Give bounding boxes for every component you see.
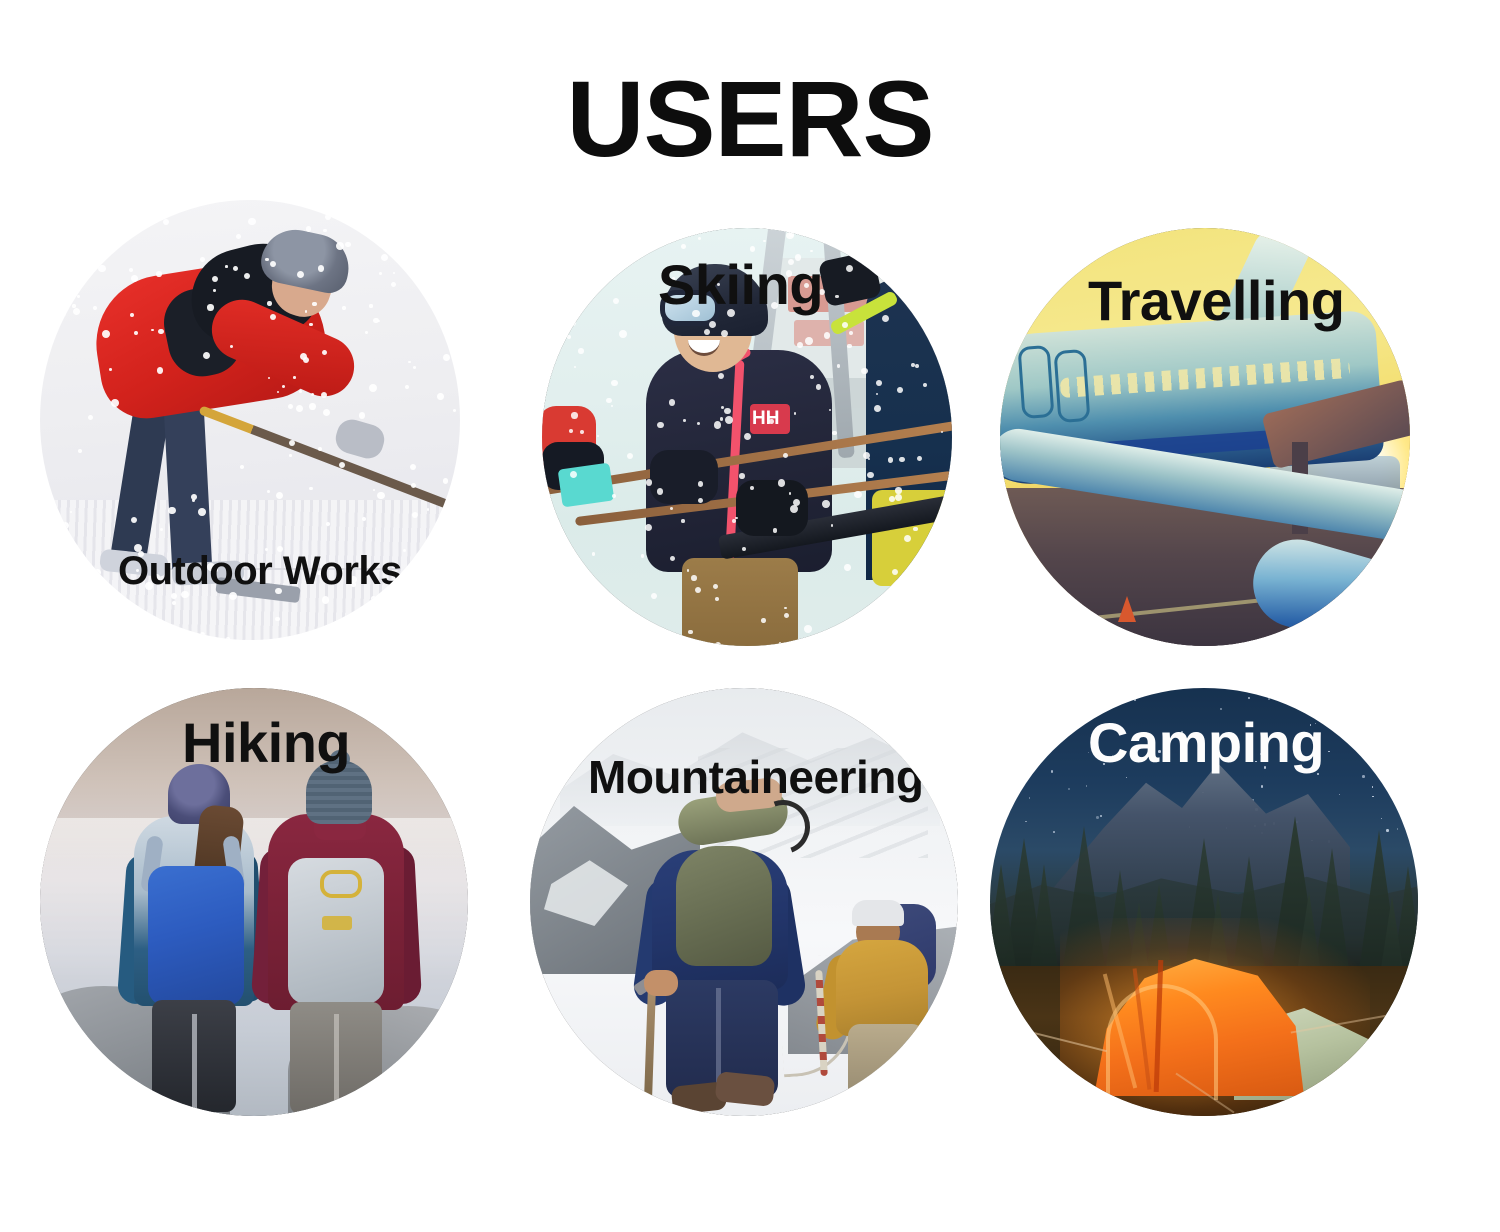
hiker1-backpack bbox=[148, 866, 244, 1006]
card-label-outdoor-works: Outdoor Works bbox=[118, 549, 402, 594]
hiker1-leg-gap bbox=[192, 1014, 197, 1112]
climber1-hand bbox=[644, 970, 678, 996]
hiker2-pack-logo bbox=[322, 916, 352, 930]
aircraft-door-front bbox=[1018, 345, 1055, 419]
users-poster: USERS Outdoor Works bbox=[0, 0, 1500, 1232]
climber2-jacket bbox=[836, 940, 928, 1036]
hiker2-pack-cinch bbox=[320, 870, 362, 898]
climber2-pants bbox=[848, 1024, 924, 1102]
hiker2-leg-gap bbox=[334, 1014, 339, 1114]
card-label-camping: Camping bbox=[1088, 710, 1324, 775]
aircraft-door-rear bbox=[1054, 349, 1091, 423]
climber1-leg-gap bbox=[716, 988, 721, 1084]
card-mountaineering[interactable]: Mountaineering bbox=[530, 688, 958, 1116]
card-label-mountaineering: Mountaineering bbox=[588, 750, 923, 804]
climber1-right-boot bbox=[715, 1071, 776, 1107]
climber2-hat bbox=[852, 900, 904, 926]
card-hiking[interactable]: Hiking bbox=[40, 688, 468, 1116]
climber1-backpack bbox=[676, 846, 772, 966]
card-outdoor-works[interactable]: Outdoor Works bbox=[40, 200, 460, 640]
card-label-travelling: Travelling bbox=[1088, 268, 1344, 333]
card-camping[interactable]: Camping bbox=[990, 688, 1418, 1116]
card-label-hiking: Hiking bbox=[182, 710, 350, 775]
card-travelling[interactable]: Travelling bbox=[1000, 228, 1410, 646]
page-title: USERS bbox=[0, 62, 1500, 175]
card-label-skiing: Skiing bbox=[658, 252, 823, 317]
card-skiing[interactable]: HH Skiing bbox=[542, 228, 952, 646]
traffic-cone bbox=[1118, 596, 1136, 622]
